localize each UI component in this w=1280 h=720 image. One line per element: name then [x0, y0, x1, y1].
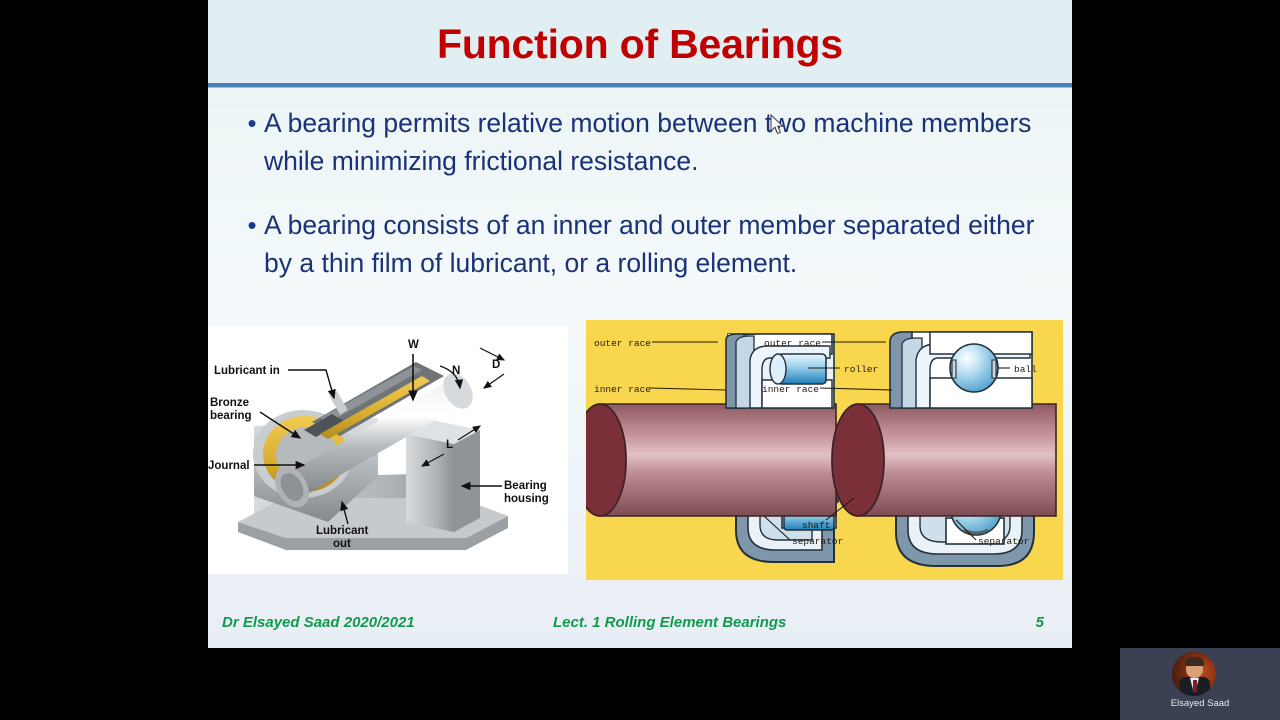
bullet-text: A bearing consists of an inner and outer… — [264, 206, 1040, 282]
list-item: • A bearing consists of an inner and out… — [240, 206, 1040, 282]
figure-label: inner race — [594, 384, 651, 395]
figure-label: roller — [844, 364, 878, 375]
avatar — [1172, 652, 1216, 696]
figure-label: Journal — [208, 460, 250, 472]
bullet-list: • A bearing permits relative motion betw… — [240, 104, 1040, 308]
rolling-element-bearing-illustration: outer race roller inner race separator s… — [586, 320, 1063, 580]
screen: Function of Bearings • A bearing permits… — [0, 0, 1280, 720]
journal-bearing-illustration: Lubricant in Bronze bearing Journal Lubr… — [208, 326, 568, 574]
figure-label: outer race — [764, 338, 821, 349]
figure-label: N — [452, 365, 460, 377]
figure-label: shaft — [802, 520, 831, 531]
figure-label: bearing — [210, 410, 252, 422]
webcam-participant-tile[interactable]: Elsayed Saad — [1120, 648, 1280, 720]
figure-label: L — [446, 439, 453, 451]
figure-label: W — [408, 339, 419, 351]
figure-label: separator — [792, 536, 843, 547]
bullet-marker-icon: • — [240, 104, 264, 142]
figure-label: Lubricant — [316, 525, 369, 537]
figure-label: Bronze — [210, 397, 249, 409]
footer-author: Dr Elsayed Saad 2020/2021 — [222, 614, 415, 631]
rolling-element-bearing-figure: outer race roller inner race separator s… — [586, 320, 1063, 580]
slide-page-number: 5 — [1036, 614, 1044, 631]
participant-name-label: Elsayed Saad — [1120, 698, 1280, 709]
figure-label: out — [333, 538, 351, 550]
bullet-text: A bearing permits relative motion betwee… — [264, 104, 1040, 180]
slide-footer: Dr Elsayed Saad 2020/2021 Lect. 1 Rollin… — [208, 596, 1072, 648]
journal-bearing-figure: Lubricant in Bronze bearing Journal Lubr… — [208, 326, 568, 574]
figure-label: Lubricant in — [214, 365, 280, 377]
list-item: • A bearing permits relative motion betw… — [240, 104, 1040, 180]
figure-label: outer race — [594, 338, 651, 349]
figure-label: Bearing — [504, 480, 547, 492]
figure-label: housing — [504, 493, 549, 505]
figure-label: D — [492, 359, 500, 371]
bullet-marker-icon: • — [240, 206, 264, 244]
presentation-slide[interactable]: Function of Bearings • A bearing permits… — [208, 0, 1072, 648]
title-divider-rule — [208, 83, 1072, 87]
figure-label: inner race — [762, 384, 819, 395]
footer-lecture-title: Lect. 1 Rolling Element Bearings — [553, 614, 786, 631]
figure-label: ball — [1014, 364, 1037, 375]
page-title: Function of Bearings — [208, 21, 1072, 67]
figure-label: separator — [978, 536, 1029, 547]
